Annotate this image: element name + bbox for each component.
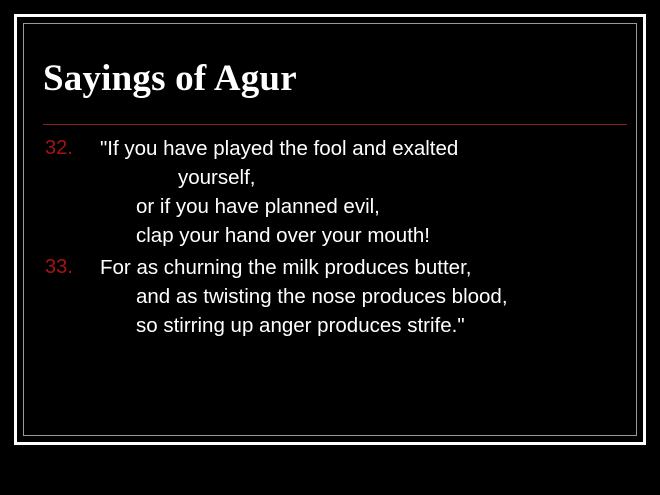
verse-line: and as twisting the nose produces blood, [24, 282, 636, 311]
slide-title: Sayings of Agur [43, 58, 297, 100]
slide-inner-border: Sayings of Agur 32. "If you have played … [23, 23, 637, 436]
verse-block: 33. For as churning the milk produces bu… [24, 253, 636, 340]
slide-content: Sayings of Agur 32. "If you have played … [24, 24, 636, 435]
verse-line: For as churning the milk produces butter… [24, 253, 636, 282]
verse-body-block: 32. "If you have played the fool and exa… [24, 134, 636, 340]
verse-line: "If you have played the fool and exalted [24, 134, 636, 163]
verse-line: clap your hand over your mouth! [24, 221, 636, 250]
verse-line-list: "If you have played the fool and exalted… [24, 134, 636, 250]
verse-line: so stirring up anger produces strife." [24, 311, 636, 340]
slide-root: Sayings of Agur 32. "If you have played … [0, 0, 660, 495]
verse-number: 32. [45, 134, 73, 163]
title-divider-rule [43, 124, 627, 125]
verse-line: or if you have planned evil, [24, 192, 636, 221]
verse-line-list: For as churning the milk produces butter… [24, 253, 636, 340]
verse-number: 33. [45, 253, 73, 282]
verse-line: yourself, [24, 163, 636, 192]
slide-outer-border: Sayings of Agur 32. "If you have played … [14, 14, 646, 445]
verse-block: 32. "If you have played the fool and exa… [24, 134, 636, 250]
